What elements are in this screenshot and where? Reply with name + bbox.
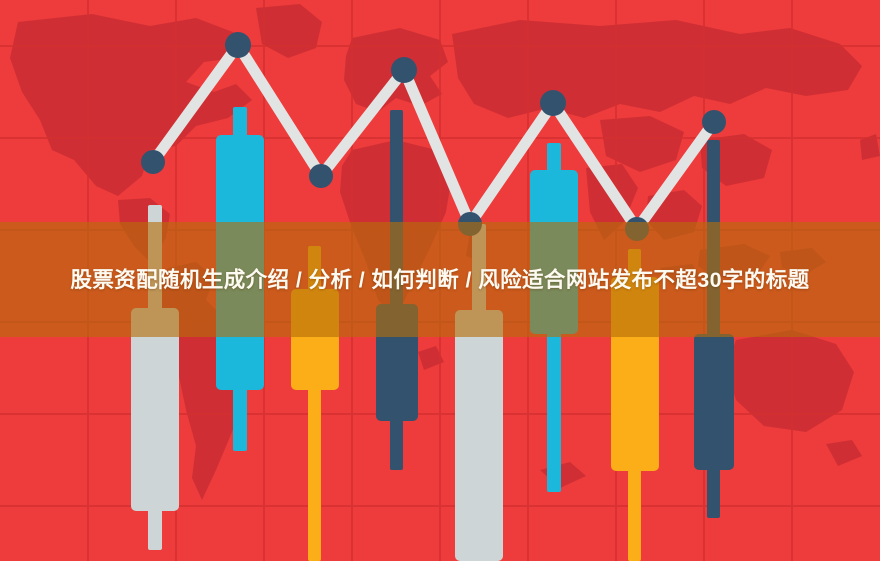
title-band: 股票资配随机生成介绍 / 分析 / 如何判断 / 风险适合网站发布不超30字的标… bbox=[0, 222, 880, 337]
stock-banner-graphic: 股票资配随机生成介绍 / 分析 / 如何判断 / 风险适合网站发布不超30字的标… bbox=[0, 0, 880, 561]
page-title: 股票资配随机生成介绍 / 分析 / 如何判断 / 风险适合网站发布不超30字的标… bbox=[10, 260, 870, 300]
trend-polyline bbox=[153, 45, 714, 229]
